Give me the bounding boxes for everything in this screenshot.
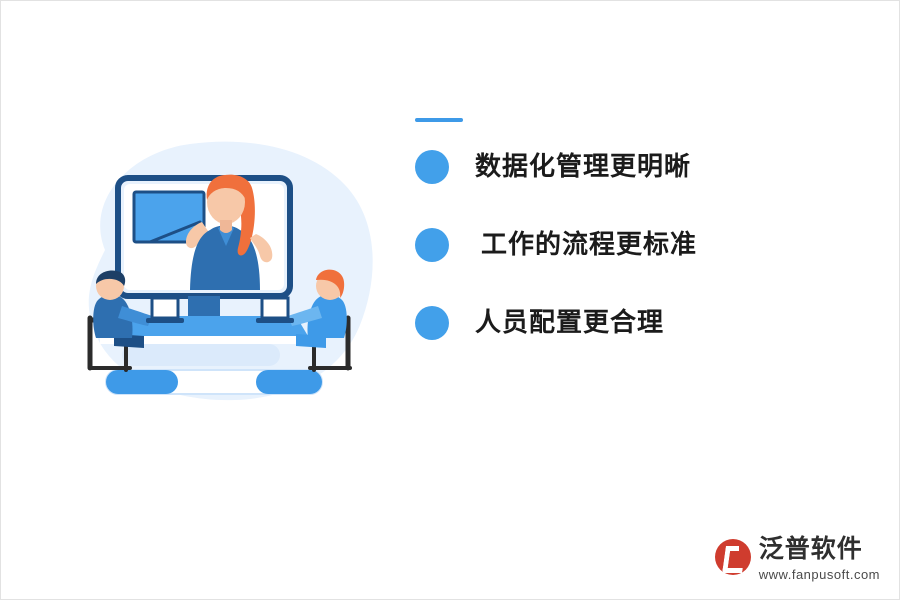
bullet-dot-icon	[415, 150, 449, 184]
brand-text-block: 泛普软件 www.fanpusoft.com	[759, 537, 880, 582]
feature-bullet-list: 数据化管理更明晰 工作的流程更标准 人员配置更合理	[415, 150, 855, 340]
bullet-dot-icon	[415, 306, 449, 340]
brand-url: www.fanpusoft.com	[759, 567, 880, 582]
platform-upper	[122, 344, 280, 366]
platform-accent-right	[256, 370, 322, 394]
bullet-label: 人员配置更合理	[475, 307, 664, 338]
bullet-label: 数据化管理更明晰	[475, 151, 691, 182]
list-item: 人员配置更合理	[415, 306, 855, 340]
list-item: 数据化管理更明晰	[415, 150, 855, 184]
laptop-right	[256, 298, 294, 323]
fanpu-logo-icon	[715, 539, 751, 575]
accent-rule	[415, 118, 463, 122]
bullet-label: 工作的流程更标准	[475, 229, 697, 260]
feature-list-panel: 数据化管理更明晰 工作的流程更标准 人员配置更合理	[415, 118, 855, 340]
list-item: 工作的流程更标准	[415, 228, 855, 262]
brand-name: 泛普软件	[759, 537, 880, 562]
laptop-left	[146, 298, 184, 323]
brand-logo: 泛普软件 www.fanpusoft.com	[715, 537, 880, 582]
online-training-illustration	[60, 130, 390, 420]
monitor-stand	[188, 296, 220, 318]
platform-accent-left	[106, 370, 178, 394]
bullet-dot-icon	[415, 228, 449, 262]
